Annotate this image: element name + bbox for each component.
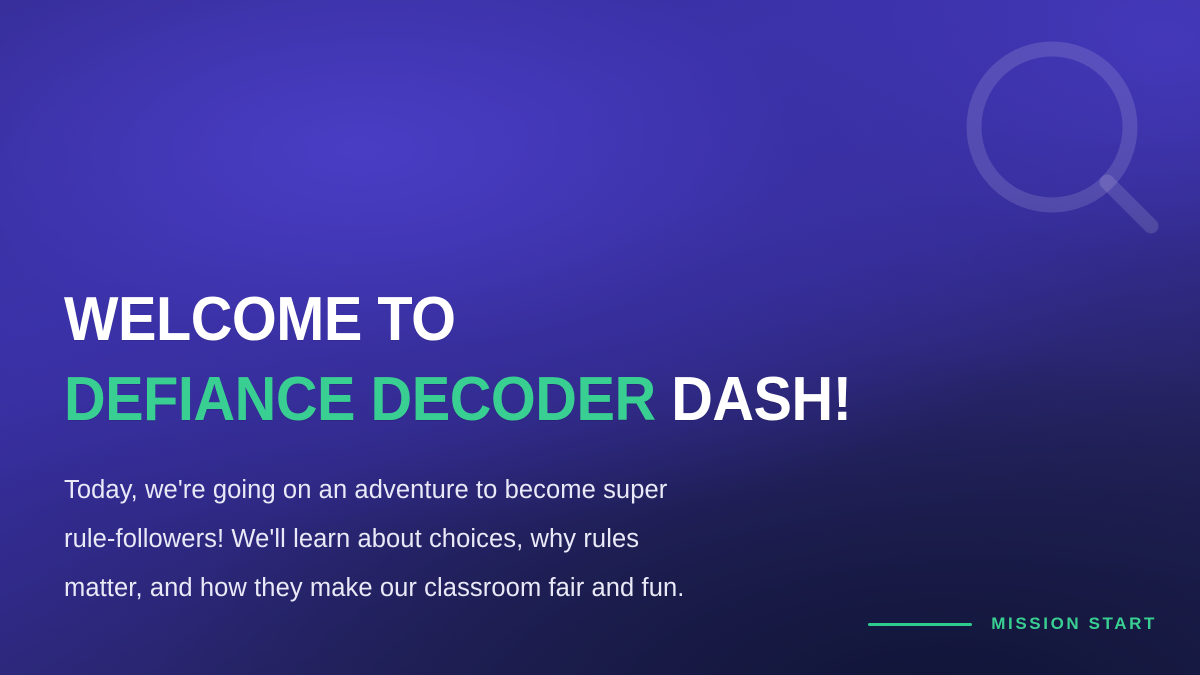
body-line-3: matter, and how they make our classroom … xyxy=(64,564,824,613)
body-line-2: rule-followers! We'll learn about choice… xyxy=(64,515,824,564)
headline-plain-text: DASH! xyxy=(656,365,852,434)
mission-start-tag: MISSION START xyxy=(868,614,1157,634)
mission-start-label: MISSION START xyxy=(991,614,1157,634)
welcome-slide: WELCOME TO DEFIANCE DECODER DASH! Today,… xyxy=(0,0,1200,675)
headline-line-2: DEFIANCE DECODER DASH! xyxy=(64,362,882,438)
page-title: WELCOME TO DEFIANCE DECODER DASH! xyxy=(64,282,944,438)
body-line-1: Today, we're going on an adventure to be… xyxy=(64,466,824,515)
search-icon xyxy=(955,30,1170,240)
body-copy: Today, we're going on an adventure to be… xyxy=(64,466,824,613)
divider-rule xyxy=(868,623,972,626)
headline-accent-text: DEFIANCE DECODER xyxy=(64,365,656,434)
headline-line-1: WELCOME TO xyxy=(64,282,882,358)
